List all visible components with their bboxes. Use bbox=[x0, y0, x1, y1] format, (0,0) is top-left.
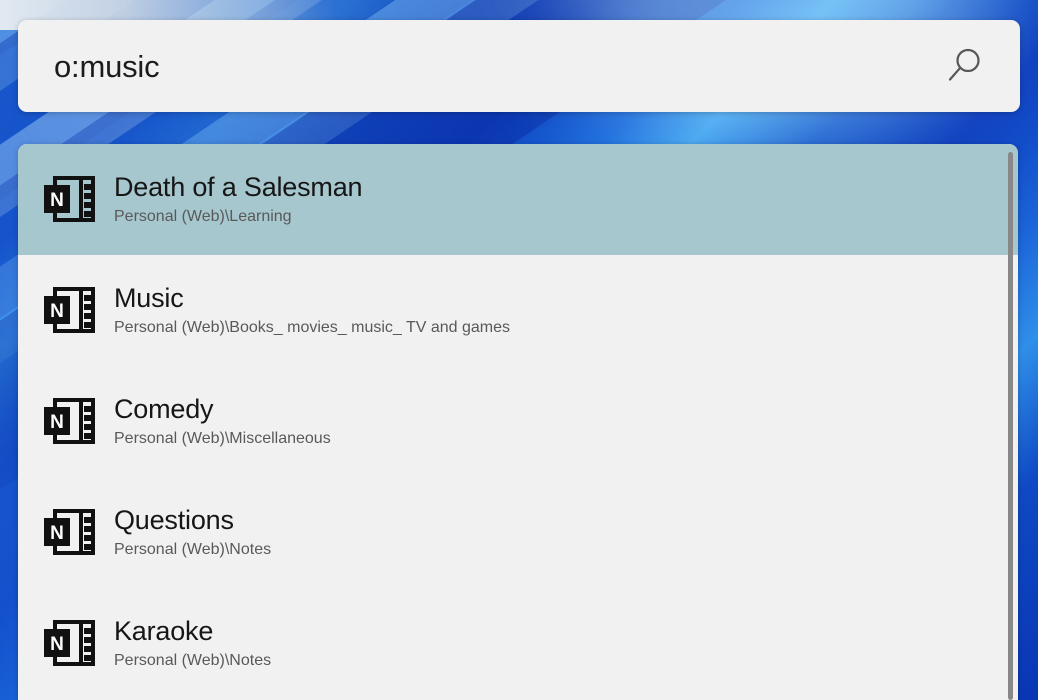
search-result-item[interactable]: NMusicPersonal (Web)\Books_ movies_ musi… bbox=[18, 255, 1018, 366]
search-result-title: Music bbox=[114, 283, 510, 313]
search-result-texts: KaraokePersonal (Web)\Notes bbox=[114, 616, 271, 671]
search-result-item[interactable]: NDeath of a SalesmanPersonal (Web)\Learn… bbox=[18, 144, 1018, 255]
svg-text:N: N bbox=[50, 301, 64, 322]
svg-text:N: N bbox=[50, 190, 64, 211]
search-input[interactable]: o:music bbox=[54, 51, 938, 82]
search-results-panel: NDeath of a SalesmanPersonal (Web)\Learn… bbox=[18, 144, 1018, 700]
svg-text:N: N bbox=[50, 634, 64, 655]
onenote-icon: N bbox=[40, 174, 98, 226]
results-scrollbar-thumb[interactable] bbox=[1008, 152, 1013, 700]
search-result-texts: QuestionsPersonal (Web)\Notes bbox=[114, 505, 271, 560]
search-icon[interactable] bbox=[938, 40, 990, 92]
search-result-texts: ComedyPersonal (Web)\Miscellaneous bbox=[114, 394, 331, 449]
svg-text:N: N bbox=[50, 412, 64, 433]
search-result-title: Questions bbox=[114, 505, 271, 535]
search-result-item[interactable]: NKaraokePersonal (Web)\Notes bbox=[18, 588, 1018, 699]
onenote-icon: N bbox=[40, 507, 98, 559]
search-result-title: Death of a Salesman bbox=[114, 172, 362, 202]
search-result-subtitle: Personal (Web)\Miscellaneous bbox=[114, 429, 331, 449]
search-result-texts: Death of a SalesmanPersonal (Web)\Learni… bbox=[114, 172, 362, 227]
search-result-subtitle: Personal (Web)\Notes bbox=[114, 540, 271, 560]
search-result-subtitle: Personal (Web)\Books_ movies_ music_ TV … bbox=[114, 318, 510, 338]
search-result-subtitle: Personal (Web)\Notes bbox=[114, 651, 271, 671]
search-result-title: Karaoke bbox=[114, 616, 271, 646]
search-result-item[interactable]: NQuestionsPersonal (Web)\Notes bbox=[18, 477, 1018, 588]
onenote-icon: N bbox=[40, 285, 98, 337]
search-result-item[interactable]: NComedyPersonal (Web)\Miscellaneous bbox=[18, 366, 1018, 477]
search-result-subtitle: Personal (Web)\Learning bbox=[114, 207, 362, 227]
svg-text:N: N bbox=[50, 523, 64, 544]
onenote-icon: N bbox=[40, 618, 98, 670]
onenote-icon: N bbox=[40, 396, 98, 448]
search-result-texts: MusicPersonal (Web)\Books_ movies_ music… bbox=[114, 283, 510, 338]
search-results-list: NDeath of a SalesmanPersonal (Web)\Learn… bbox=[18, 144, 1018, 700]
desktop-root: o:music NDeath of a SalesmanPersonal (We… bbox=[0, 0, 1038, 700]
search-bar[interactable]: o:music bbox=[18, 20, 1020, 112]
results-scrollbar[interactable] bbox=[1006, 144, 1016, 700]
search-result-title: Comedy bbox=[114, 394, 331, 424]
